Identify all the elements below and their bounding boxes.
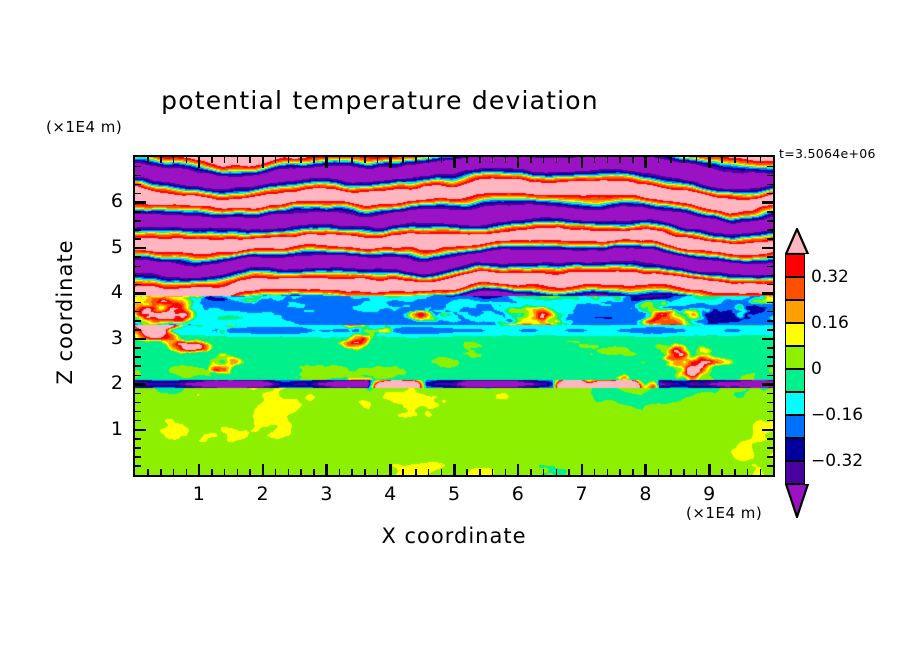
x-minor-tick bbox=[428, 469, 430, 475]
colorbar-over-arrow bbox=[783, 228, 811, 254]
x-minor-tick bbox=[607, 469, 609, 475]
y-minor-tick-right bbox=[767, 175, 773, 177]
x-minor-tick-top bbox=[683, 157, 685, 163]
y-tick-label: 1 bbox=[83, 418, 123, 440]
x-minor-tick-top bbox=[224, 157, 226, 163]
x-minor-tick-top bbox=[377, 157, 379, 163]
x-minor-tick-top bbox=[402, 157, 404, 163]
y-axis-unit-label: (×1E4 m) bbox=[46, 118, 122, 136]
x-minor-tick bbox=[734, 469, 736, 475]
y-minor-tick-right bbox=[767, 438, 773, 440]
x-minor-tick-top bbox=[237, 157, 239, 163]
x-minor-tick-top bbox=[466, 157, 468, 163]
y-minor-tick bbox=[135, 420, 141, 422]
y-major-tick-right bbox=[762, 383, 773, 386]
x-minor-tick bbox=[313, 469, 315, 475]
y-minor-tick-right bbox=[767, 238, 773, 240]
y-minor-tick bbox=[135, 393, 141, 395]
y-minor-tick-right bbox=[767, 256, 773, 258]
y-major-tick-right bbox=[762, 292, 773, 295]
x-minor-tick bbox=[160, 469, 162, 475]
y-major-tick-right bbox=[762, 338, 773, 341]
x-minor-tick-top bbox=[721, 157, 723, 163]
x-major-tick-top bbox=[389, 157, 392, 168]
x-major-tick bbox=[517, 464, 520, 475]
y-minor-tick-right bbox=[767, 229, 773, 231]
x-minor-tick-top bbox=[160, 157, 162, 163]
x-tick-label: 2 bbox=[243, 483, 283, 505]
x-tick-label: 4 bbox=[370, 483, 410, 505]
colorbar-band bbox=[785, 300, 805, 323]
time-annotation: t=3.5064e+06 bbox=[779, 146, 876, 161]
colorbar-tick-label: 0.32 bbox=[811, 267, 849, 287]
y-minor-tick-right bbox=[767, 320, 773, 322]
y-minor-tick-right bbox=[767, 275, 773, 277]
y-axis-label: Z coordinate bbox=[53, 222, 77, 402]
colorbar-band bbox=[785, 323, 805, 346]
x-minor-tick bbox=[632, 469, 634, 475]
y-minor-tick-right bbox=[767, 356, 773, 358]
y-minor-tick bbox=[135, 238, 141, 240]
y-minor-tick bbox=[135, 175, 141, 177]
colorbar-band bbox=[785, 346, 805, 369]
colorbar-band bbox=[785, 277, 805, 300]
y-minor-tick bbox=[135, 211, 141, 213]
x-major-tick-top bbox=[644, 157, 647, 168]
colorbar-band bbox=[785, 392, 805, 415]
x-minor-tick bbox=[658, 469, 660, 475]
x-major-tick bbox=[644, 464, 647, 475]
x-minor-tick-top bbox=[441, 157, 443, 163]
x-minor-tick bbox=[186, 469, 188, 475]
x-minor-tick bbox=[683, 469, 685, 475]
y-minor-tick-right bbox=[767, 420, 773, 422]
x-minor-tick-top bbox=[173, 157, 175, 163]
y-minor-tick-right bbox=[767, 347, 773, 349]
y-major-tick bbox=[135, 247, 146, 250]
colorbar-tick-label: 0.16 bbox=[811, 313, 849, 333]
x-minor-tick bbox=[237, 469, 239, 475]
x-minor-tick-top bbox=[760, 157, 762, 163]
x-minor-tick-top bbox=[568, 157, 570, 163]
x-minor-tick bbox=[147, 469, 149, 475]
y-minor-tick-right bbox=[767, 220, 773, 222]
x-major-tick-top bbox=[708, 157, 711, 168]
x-minor-tick-top bbox=[275, 157, 277, 163]
x-minor-tick-top bbox=[505, 157, 507, 163]
y-tick-label: 3 bbox=[83, 327, 123, 349]
x-minor-tick bbox=[377, 469, 379, 475]
colorbar-tick-label: 0 bbox=[811, 359, 822, 379]
x-major-tick bbox=[708, 464, 711, 475]
colorbar-band bbox=[785, 369, 805, 392]
y-major-tick-right bbox=[762, 429, 773, 432]
x-axis-label: X coordinate bbox=[133, 524, 775, 548]
x-minor-tick bbox=[492, 469, 494, 475]
x-minor-tick bbox=[696, 469, 698, 475]
x-minor-tick bbox=[441, 469, 443, 475]
x-minor-tick-top bbox=[351, 157, 353, 163]
x-minor-tick-top bbox=[543, 157, 545, 163]
x-minor-tick-top bbox=[479, 157, 481, 163]
x-minor-tick-top bbox=[658, 157, 660, 163]
y-minor-tick-right bbox=[767, 411, 773, 413]
x-major-tick bbox=[262, 464, 265, 475]
y-minor-tick bbox=[135, 220, 141, 222]
y-minor-tick bbox=[135, 402, 141, 404]
colorbar-under-arrow bbox=[783, 484, 811, 518]
x-major-tick-top bbox=[198, 157, 201, 168]
x-minor-tick-top bbox=[747, 157, 749, 163]
x-minor-tick bbox=[543, 469, 545, 475]
x-minor-tick bbox=[568, 469, 570, 475]
y-minor-tick-right bbox=[767, 329, 773, 331]
x-major-tick bbox=[325, 464, 328, 475]
x-axis-unit-label: (×1E4 m) bbox=[686, 504, 762, 522]
x-minor-tick bbox=[300, 469, 302, 475]
x-tick-label: 8 bbox=[625, 483, 665, 505]
y-minor-tick bbox=[135, 329, 141, 331]
x-minor-tick bbox=[402, 469, 404, 475]
y-minor-tick-right bbox=[767, 393, 773, 395]
y-minor-tick bbox=[135, 320, 141, 322]
colorbar-band bbox=[785, 254, 805, 277]
y-minor-tick-right bbox=[767, 365, 773, 367]
y-minor-tick-right bbox=[767, 166, 773, 168]
y-minor-tick-right bbox=[767, 284, 773, 286]
x-minor-tick-top bbox=[492, 157, 494, 163]
x-minor-tick-top bbox=[594, 157, 596, 163]
x-tick-label: 5 bbox=[434, 483, 474, 505]
x-major-tick-top bbox=[262, 157, 265, 168]
y-minor-tick bbox=[135, 275, 141, 277]
x-tick-label: 9 bbox=[689, 483, 729, 505]
x-minor-tick-top bbox=[696, 157, 698, 163]
y-major-tick bbox=[135, 429, 146, 432]
x-minor-tick bbox=[505, 469, 507, 475]
x-minor-tick bbox=[530, 469, 532, 475]
x-minor-tick bbox=[479, 469, 481, 475]
x-minor-tick-top bbox=[339, 157, 341, 163]
y-tick-label: 2 bbox=[83, 372, 123, 394]
x-minor-tick-top bbox=[632, 157, 634, 163]
x-minor-tick-top bbox=[186, 157, 188, 163]
y-minor-tick-right bbox=[767, 184, 773, 186]
x-minor-tick bbox=[364, 469, 366, 475]
y-minor-tick bbox=[135, 411, 141, 413]
y-minor-tick-right bbox=[767, 311, 773, 313]
x-minor-tick bbox=[721, 469, 723, 475]
x-major-tick-top bbox=[581, 157, 584, 168]
y-minor-tick bbox=[135, 302, 141, 304]
colorbar-tick-label: −0.16 bbox=[811, 405, 863, 425]
x-minor-tick bbox=[670, 469, 672, 475]
x-minor-tick bbox=[594, 469, 596, 475]
x-minor-tick-top bbox=[607, 157, 609, 163]
y-minor-tick bbox=[135, 166, 141, 168]
x-minor-tick bbox=[339, 469, 341, 475]
y-minor-tick bbox=[135, 184, 141, 186]
y-minor-tick bbox=[135, 447, 141, 449]
x-tick-label: 3 bbox=[306, 483, 346, 505]
x-minor-tick-top bbox=[670, 157, 672, 163]
y-minor-tick-right bbox=[767, 193, 773, 195]
y-major-tick bbox=[135, 338, 146, 341]
x-major-tick-top bbox=[517, 157, 520, 168]
x-major-tick bbox=[581, 464, 584, 475]
x-tick-label: 6 bbox=[498, 483, 538, 505]
y-minor-tick bbox=[135, 438, 141, 440]
x-minor-tick-top bbox=[734, 157, 736, 163]
x-major-tick bbox=[198, 464, 201, 475]
x-major-tick bbox=[389, 464, 392, 475]
y-minor-tick bbox=[135, 256, 141, 258]
x-tick-label: 1 bbox=[179, 483, 219, 505]
plot-area bbox=[133, 155, 775, 477]
x-minor-tick-top bbox=[428, 157, 430, 163]
x-minor-tick bbox=[249, 469, 251, 475]
y-minor-tick bbox=[135, 347, 141, 349]
y-minor-tick bbox=[135, 284, 141, 286]
y-minor-tick-right bbox=[767, 447, 773, 449]
colorbar-band bbox=[785, 438, 805, 461]
y-minor-tick bbox=[135, 365, 141, 367]
x-minor-tick bbox=[619, 469, 621, 475]
y-minor-tick bbox=[135, 229, 141, 231]
y-minor-tick bbox=[135, 311, 141, 313]
y-minor-tick bbox=[135, 266, 141, 268]
x-minor-tick bbox=[556, 469, 558, 475]
x-minor-tick bbox=[760, 469, 762, 475]
x-minor-tick bbox=[211, 469, 213, 475]
y-minor-tick bbox=[135, 465, 141, 467]
x-minor-tick bbox=[173, 469, 175, 475]
y-minor-tick-right bbox=[767, 211, 773, 213]
y-major-tick bbox=[135, 383, 146, 386]
x-minor-tick-top bbox=[364, 157, 366, 163]
x-minor-tick-top bbox=[530, 157, 532, 163]
x-minor-tick bbox=[351, 469, 353, 475]
contour-field bbox=[135, 157, 773, 475]
x-major-tick bbox=[453, 464, 456, 475]
x-minor-tick-top bbox=[619, 157, 621, 163]
x-minor-tick bbox=[466, 469, 468, 475]
x-minor-tick-top bbox=[249, 157, 251, 163]
x-minor-tick bbox=[415, 469, 417, 475]
y-tick-label: 5 bbox=[83, 236, 123, 258]
y-tick-label: 4 bbox=[83, 281, 123, 303]
y-minor-tick bbox=[135, 456, 141, 458]
y-major-tick bbox=[135, 292, 146, 295]
colorbar-band bbox=[785, 461, 805, 484]
x-major-tick-top bbox=[453, 157, 456, 168]
y-major-tick-right bbox=[762, 201, 773, 204]
y-major-tick-right bbox=[762, 247, 773, 250]
y-tick-label: 6 bbox=[83, 190, 123, 212]
y-minor-tick bbox=[135, 356, 141, 358]
y-minor-tick bbox=[135, 375, 141, 377]
x-minor-tick-top bbox=[300, 157, 302, 163]
x-minor-tick bbox=[288, 469, 290, 475]
y-minor-tick-right bbox=[767, 375, 773, 377]
x-major-tick-top bbox=[325, 157, 328, 168]
colorbar-tick-label: −0.32 bbox=[811, 451, 863, 471]
x-minor-tick bbox=[224, 469, 226, 475]
y-minor-tick-right bbox=[767, 402, 773, 404]
x-minor-tick-top bbox=[288, 157, 290, 163]
x-minor-tick-top bbox=[415, 157, 417, 163]
colorbar: 0.320.160−0.16−0.32 bbox=[781, 228, 811, 516]
x-minor-tick bbox=[747, 469, 749, 475]
y-minor-tick bbox=[135, 193, 141, 195]
y-minor-tick-right bbox=[767, 456, 773, 458]
y-major-tick bbox=[135, 201, 146, 204]
x-minor-tick bbox=[275, 469, 277, 475]
x-tick-label: 7 bbox=[562, 483, 602, 505]
x-minor-tick-top bbox=[313, 157, 315, 163]
x-minor-tick-top bbox=[211, 157, 213, 163]
colorbar-band bbox=[785, 415, 805, 438]
y-minor-tick-right bbox=[767, 266, 773, 268]
y-minor-tick-right bbox=[767, 465, 773, 467]
x-minor-tick-top bbox=[556, 157, 558, 163]
y-minor-tick-right bbox=[767, 302, 773, 304]
chart-title: potential temperature deviation bbox=[0, 86, 760, 115]
x-minor-tick-top bbox=[147, 157, 149, 163]
